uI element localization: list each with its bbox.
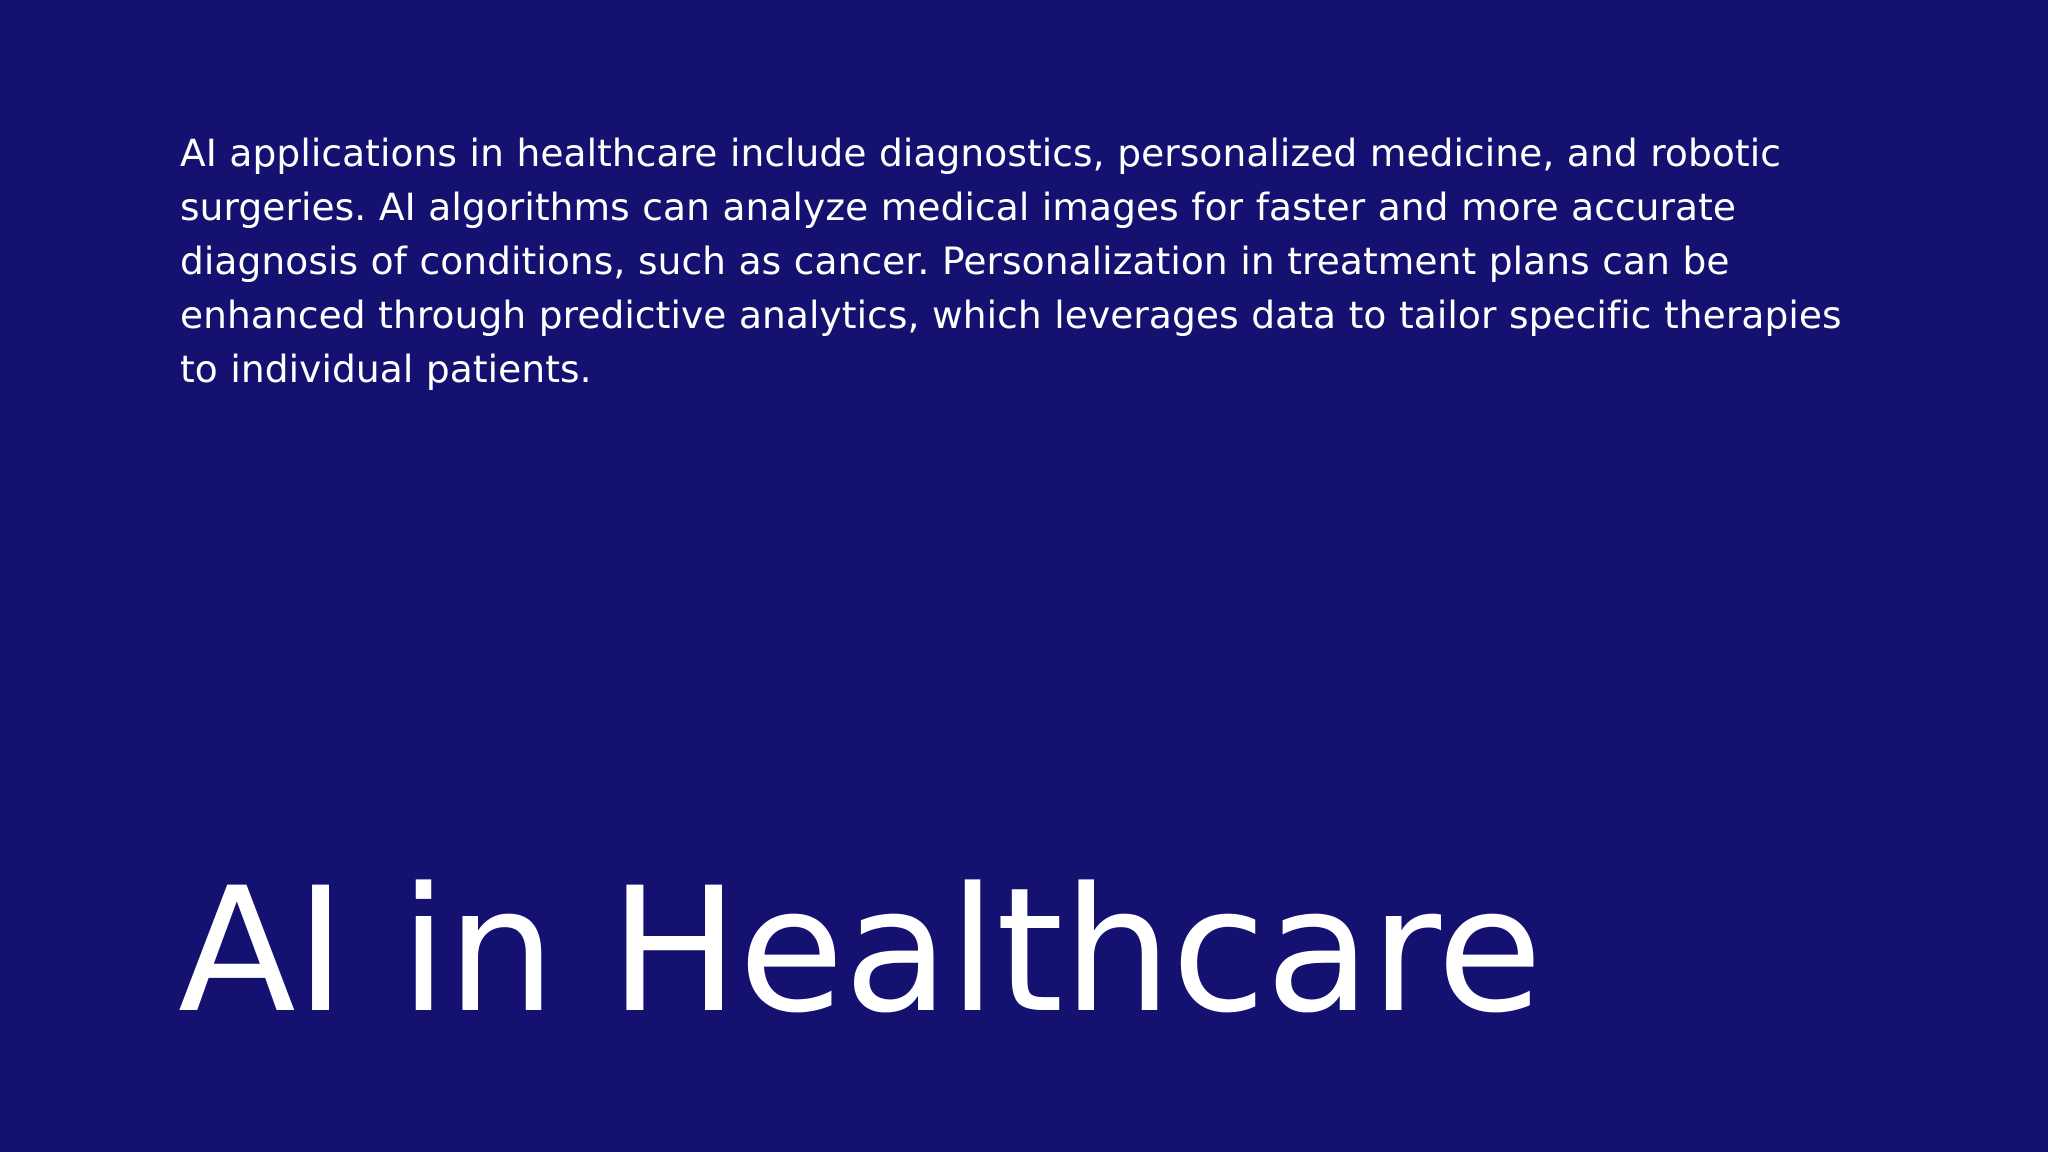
title-block: AI in Healthcare [178,862,1878,1040]
slide-canvas: AI applications in healthcare include di… [0,0,2048,1152]
body-text-block: AI applications in healthcare include di… [180,126,1870,396]
slide-title: AI in Healthcare [178,862,1878,1040]
body-paragraph: AI applications in healthcare include di… [180,126,1870,396]
